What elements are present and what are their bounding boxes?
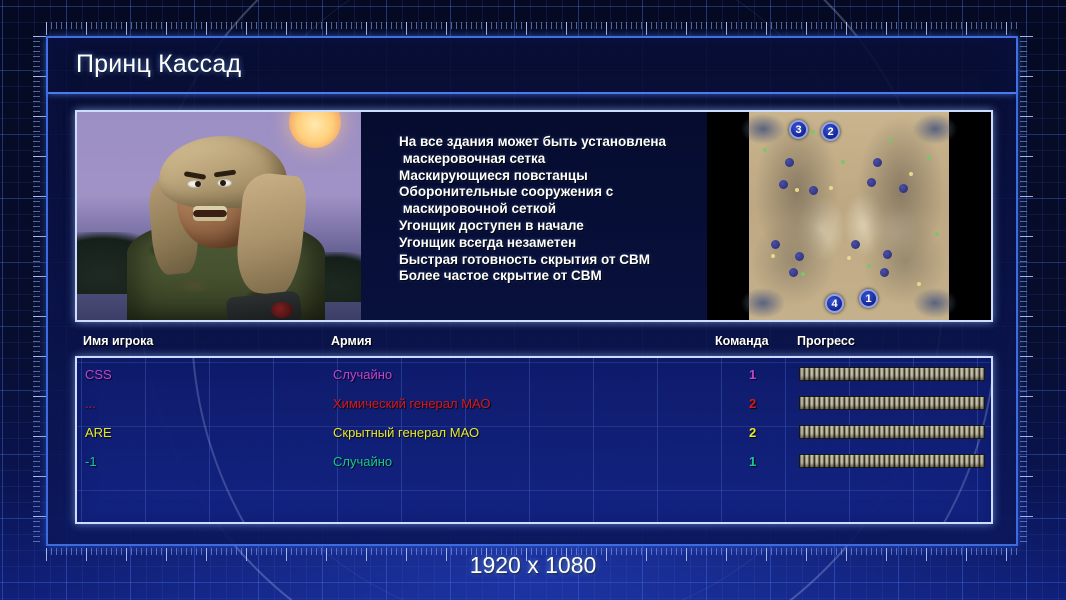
general-info-panel: На все здания может быть установлена мас… (75, 110, 993, 322)
player-table-header: Имя игрока Армия Команда Прогресс (75, 334, 993, 356)
map-water-corner (741, 288, 785, 318)
table-row[interactable]: CSSСлучайно1 (77, 363, 991, 387)
title-bar: Принц Кассад (48, 38, 1016, 94)
player-team[interactable]: 2 (749, 421, 756, 445)
map-prop (763, 148, 767, 152)
column-header-progress: Прогресс (797, 334, 855, 348)
map-water-corner (913, 288, 957, 318)
map-prop (867, 264, 871, 268)
player-army[interactable]: Случайно (333, 450, 392, 474)
player-army[interactable]: Химический генерал МАО (333, 392, 491, 416)
main-window: Принц Кассад (46, 36, 1018, 546)
player-name: CSS (85, 363, 112, 387)
page-title: Принц Кассад (76, 50, 241, 79)
map-prop (889, 138, 893, 142)
map-prop (801, 272, 805, 276)
description-line: Угонщик доступен в начале (399, 218, 697, 235)
map-structure (789, 268, 798, 277)
map-prop (829, 186, 833, 190)
pupil-left (195, 181, 201, 187)
ruler-top (46, 22, 1018, 35)
player-army[interactable]: Скрытный генерал МАО (333, 421, 479, 445)
map-water-corner (913, 114, 957, 144)
map-prop (841, 160, 845, 164)
mouth (193, 206, 227, 221)
column-header-team: Команда (715, 334, 769, 348)
player-team[interactable]: 2 (749, 392, 756, 416)
map-structure (880, 268, 889, 277)
table-row[interactable]: ...Химический генерал МАО2 (77, 392, 991, 416)
map-start-position-2[interactable]: 2 (821, 122, 840, 141)
map-structure (785, 158, 794, 167)
player-progress-bar (799, 454, 985, 468)
player-progress-bar (799, 425, 985, 439)
ruler-right (1020, 36, 1033, 546)
description-line: Угонщик всегда незаметен (399, 235, 697, 252)
description-line: Маскирующиеся повстанцы (399, 168, 697, 185)
game-setup-screen: Принц Кассад (0, 0, 1066, 600)
map-structure (883, 250, 892, 259)
player-name: -1 (85, 450, 97, 474)
player-progress-bar (799, 367, 985, 381)
map-prop (927, 156, 931, 160)
player-rows: CSSСлучайно1...Химический генерал МАО2AR… (77, 363, 991, 474)
player-table: CSSСлучайно1...Химический генерал МАО2AR… (75, 356, 993, 524)
description-line: маскировочной сеткой (399, 201, 697, 218)
map-structure (779, 180, 788, 189)
player-progress-bar (799, 396, 985, 410)
portrait-figure (121, 134, 331, 320)
weapon-detail (271, 302, 293, 318)
player-team[interactable]: 1 (749, 363, 756, 387)
map-structure (867, 178, 876, 187)
pupil-right (220, 180, 226, 186)
map-water-corner (741, 114, 785, 144)
column-header-army: Армия (331, 334, 372, 348)
map-prop (811, 130, 815, 134)
map-start-position-3[interactable]: 3 (789, 120, 808, 139)
player-name: ... (85, 392, 96, 416)
map-structure (809, 186, 818, 195)
map-preview[interactable]: 3 2 4 1 (707, 112, 991, 320)
ruler-left (33, 36, 46, 546)
description-line: маскеровочная сетка (399, 151, 697, 168)
map-start-position-4[interactable]: 4 (825, 294, 844, 313)
general-description: На все здания может быть установлена мас… (361, 112, 707, 320)
map-prop (935, 232, 939, 236)
map-prop (847, 256, 851, 260)
map-prop (909, 172, 913, 176)
map-prop (771, 254, 775, 258)
column-header-player: Имя игрока (83, 334, 153, 348)
map-terrain: 3 2 4 1 (749, 112, 949, 320)
player-army[interactable]: Случайно (333, 363, 392, 387)
table-row[interactable]: -1Случайно1 (77, 450, 991, 474)
description-line: Более частое скрытие от СВМ (399, 268, 697, 285)
player-name: ARE (85, 421, 112, 445)
table-row[interactable]: AREСкрытный генерал МАО2 (77, 421, 991, 445)
resolution-label: 1920 x 1080 (0, 552, 1066, 579)
description-line: На все здания может быть установлена (399, 134, 697, 151)
map-structure (873, 158, 882, 167)
description-line: Быстрая готовность скрытия от СВМ (399, 252, 697, 269)
general-portrait (77, 112, 361, 320)
map-start-position-1[interactable]: 1 (859, 289, 878, 308)
player-team[interactable]: 1 (749, 450, 756, 474)
map-prop (917, 282, 921, 286)
map-structure (771, 240, 780, 249)
map-structure (851, 240, 860, 249)
map-structure (795, 252, 804, 261)
map-prop (795, 188, 799, 192)
map-structure (899, 184, 908, 193)
description-line: Оборонительные сооружения с (399, 184, 697, 201)
